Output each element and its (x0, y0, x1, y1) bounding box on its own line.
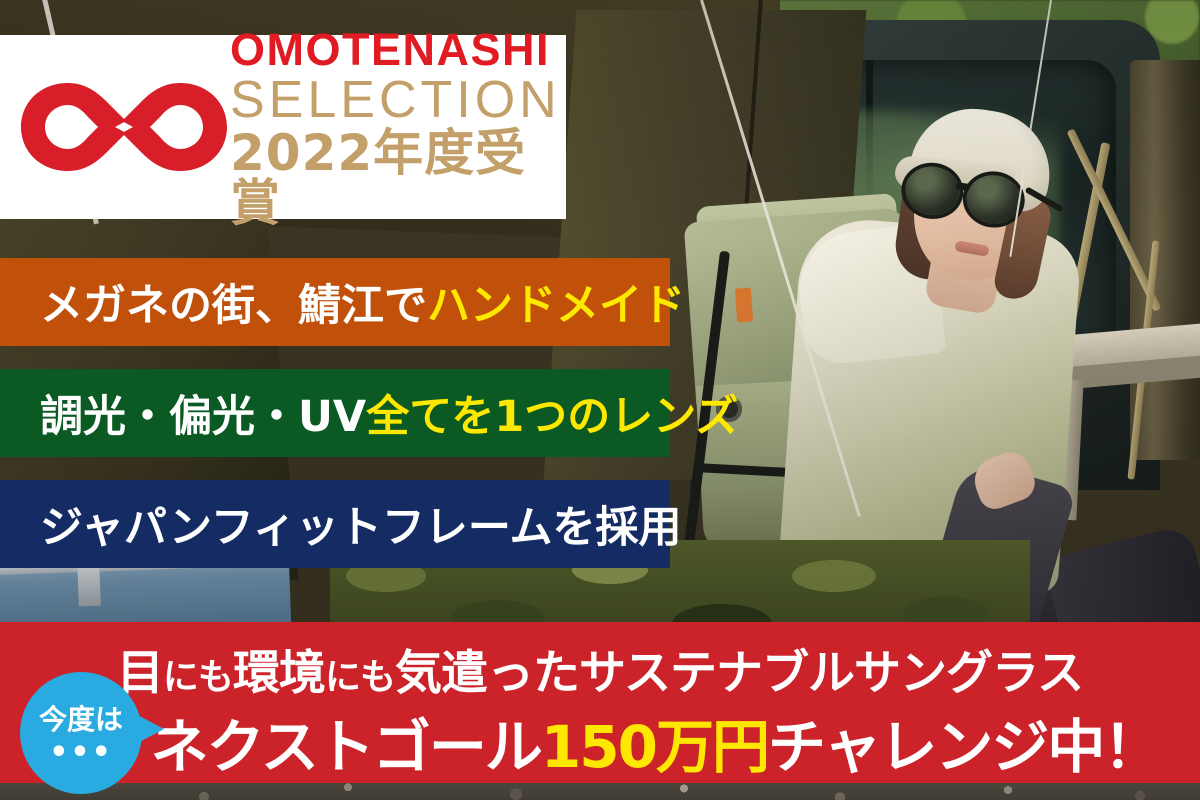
omotenashi-infinity-logo-icon (18, 77, 230, 177)
feature-banner-lens: 調光・偏光・UV全てを1つのレンズ (0, 369, 670, 457)
award-badge: OMOTENASHI SELECTION 2022年度受賞 (0, 35, 566, 219)
speech-bubble-dots: ••• (49, 738, 113, 768)
campaign-goal-amount: 150万円 (541, 713, 768, 781)
promo-banner: OMOTENASHI SELECTION 2022年度受賞 メガネの街、鯖江でハ… (0, 0, 1200, 800)
campaign-headline-p3: 環境 (233, 646, 325, 701)
feature-lens-text-yellow: 全てを1つのレンズ (366, 382, 738, 444)
award-text-block: OMOTENASHI SELECTION 2022年度受賞 (230, 27, 566, 228)
sunglasses-lens-left (902, 163, 962, 218)
campaign-goal-suffix: チャレンジ中！ (768, 713, 1159, 781)
campaign-goal-prefix: ネクストゴール (151, 713, 541, 781)
campaign-headline: 目にも環境にも気遣ったサステナブルサングラス (0, 634, 1200, 703)
campaign-banner: 目にも環境にも気遣ったサステナブルサングラス ネクストゴール150万円チャレンジ… (0, 622, 1200, 783)
campaign-headline-p4: にも (325, 657, 395, 698)
speech-bubble: 今度は ••• (20, 672, 142, 794)
feature-handmade-text-yellow: ハンドメイド (427, 271, 685, 333)
award-year-label: 2022年度受賞 (230, 128, 566, 228)
campaign-headline-p5: 気遣ったサステナブルサングラス (395, 646, 1083, 701)
campaign-headline-p2: にも (163, 657, 233, 698)
camp-chair-tag (735, 287, 753, 322)
campaign-goal-line: ネクストゴール150万円チャレンジ中！ (0, 700, 1200, 784)
feature-frame-text-white: ジャパンフィットフレームを採用 (40, 493, 682, 555)
award-title-omotenashi: OMOTENASHI (230, 27, 566, 72)
award-title-selection: SELECTION (230, 74, 566, 126)
feature-banner-handmade: メガネの街、鯖江でハンドメイド (0, 258, 670, 346)
speech-bubble-label: 今度は (39, 706, 123, 734)
feature-handmade-text-white: メガネの街、鯖江で (40, 271, 427, 333)
feature-lens-text-white: 調光・偏光・UV (40, 382, 366, 444)
feature-banner-frame: ジャパンフィットフレームを採用 (0, 480, 670, 568)
